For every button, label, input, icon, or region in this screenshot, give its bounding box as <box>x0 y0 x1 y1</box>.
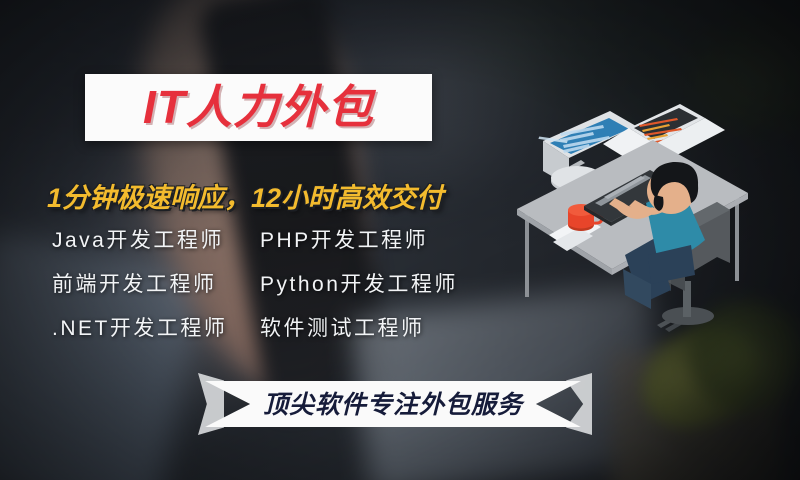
job-role-list: Java开发工程师 PHP开发工程师 前端开发工程师 Python开发工程师 .… <box>52 224 502 342</box>
ribbon-label: 顶尖软件专注外包服务 <box>205 380 581 426</box>
job-item: Java开发工程师 <box>52 224 260 254</box>
page-title: IT人力外包 <box>143 84 374 130</box>
job-item: Python开发工程师 <box>260 268 458 298</box>
job-item: 前端开发工程师 <box>52 268 260 298</box>
job-item: .NET开发工程师 <box>52 312 260 342</box>
job-row: Java开发工程师 PHP开发工程师 <box>52 224 502 254</box>
job-row: 前端开发工程师 Python开发工程师 <box>52 268 502 298</box>
job-item: PHP开发工程师 <box>260 224 428 254</box>
subtitle-tagline: 1分钟极速响应，12小时高效交付 <box>47 176 443 215</box>
poster-canvas: IT人力外包 1分钟极速响应，12小时高效交付 Java开发工程师 PHP开发工… <box>0 0 800 480</box>
main-title-banner: IT人力外包 <box>85 74 432 141</box>
developer-illustration <box>505 85 795 335</box>
job-row: .NET开发工程师 软件测试工程师 <box>52 312 502 342</box>
job-item: 软件测试工程师 <box>260 312 425 342</box>
